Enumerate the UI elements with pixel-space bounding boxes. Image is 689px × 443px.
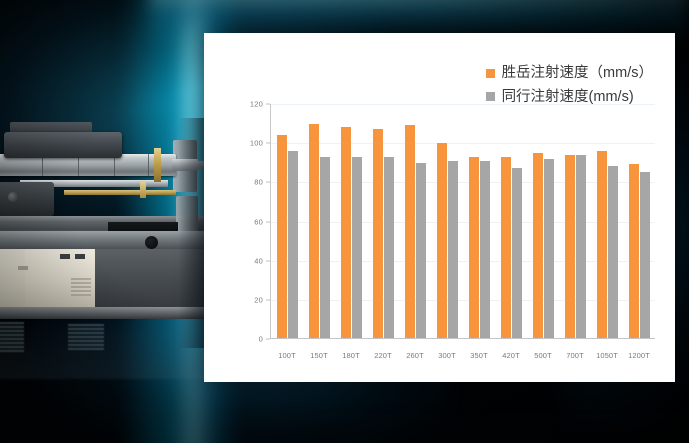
x-axis-tick-label: 300T <box>431 351 463 360</box>
x-axis-labels: 100T150T180T220T260T300T350T420T500T700T… <box>271 351 655 360</box>
bar-group <box>591 104 623 338</box>
bar-group <box>495 104 527 338</box>
x-axis-tick-label: 1200T <box>623 351 655 360</box>
y-axis-tick-label: 60 <box>254 217 263 226</box>
y-axis-tick-label: 80 <box>254 178 263 187</box>
legend-swatch-orange-square <box>486 69 495 78</box>
chart-panel: 胜岳注射速度（mm/s） 同行注射速度(mm/s) 02040608010012… <box>204 33 675 382</box>
x-axis-tick-label: 500T <box>527 351 559 360</box>
x-axis-tick-label: 1050T <box>591 351 623 360</box>
legend-swatch-gray-square <box>486 92 495 101</box>
y-axis-tick-label: 40 <box>254 256 263 265</box>
bar-shengyue <box>373 129 383 338</box>
legend-item-shengyue: 胜岳注射速度（mm/s） <box>486 66 653 81</box>
bar-shengyue <box>437 143 447 338</box>
x-axis-tick-label: 420T <box>495 351 527 360</box>
bar-peer <box>416 163 426 339</box>
bar-peer <box>384 157 394 338</box>
chart-plot-area: 020406080100120 <box>242 104 655 339</box>
bar-shengyue <box>405 125 415 338</box>
legend-item-peer: 同行注射速度(mm/s) <box>486 90 653 105</box>
y-axis-tick-label: 0 <box>259 335 263 344</box>
bar-peer <box>544 159 554 338</box>
slide-canvas: 胜岳注射速度（mm/s） 同行注射速度(mm/s) 02040608010012… <box>0 0 689 443</box>
bar-peer <box>512 168 522 338</box>
bar-shengyue <box>533 153 543 338</box>
x-axis-tick-label: 100T <box>271 351 303 360</box>
bar-shengyue <box>565 155 575 338</box>
bar-shengyue <box>309 124 319 339</box>
bar-group <box>303 104 335 338</box>
bar-group <box>335 104 367 338</box>
bar-shengyue <box>501 157 511 338</box>
bar-group <box>271 104 303 338</box>
bar-group <box>527 104 559 338</box>
bar-group <box>463 104 495 338</box>
bar-peer <box>448 161 458 338</box>
bar-shengyue <box>469 157 479 338</box>
bar-group <box>431 104 463 338</box>
bar-shengyue <box>341 127 351 338</box>
legend-label-shengyue: 胜岳注射速度（mm/s） <box>502 66 653 81</box>
bar-shengyue <box>629 164 639 338</box>
bar-peer <box>288 151 298 338</box>
bar-peer <box>640 172 650 338</box>
bar-group <box>623 104 655 338</box>
bar-peer <box>352 157 362 338</box>
x-axis-tick-label: 180T <box>335 351 367 360</box>
x-axis-tick-label: 220T <box>367 351 399 360</box>
x-axis-tick-label: 150T <box>303 351 335 360</box>
legend-label-peer: 同行注射速度(mm/s) <box>502 90 634 105</box>
bar-group <box>367 104 399 338</box>
bar-peer <box>320 157 330 338</box>
bar-group <box>399 104 431 338</box>
y-axis-tick-label: 20 <box>254 295 263 304</box>
bar-peer <box>576 155 586 338</box>
bar-shengyue <box>597 151 607 338</box>
bar-peer <box>608 166 618 338</box>
y-axis: 020406080100120 <box>242 104 270 339</box>
y-axis-tick-label: 100 <box>250 139 263 148</box>
bar-series-container <box>271 104 655 338</box>
bar-peer <box>480 161 490 338</box>
x-axis-tick-label: 260T <box>399 351 431 360</box>
y-axis-tick-label: 120 <box>250 100 263 109</box>
bar-shengyue <box>277 135 287 338</box>
x-axis-tick-label: 350T <box>463 351 495 360</box>
x-axis-line <box>270 338 655 339</box>
x-axis-tick-label: 700T <box>559 351 591 360</box>
bar-group <box>559 104 591 338</box>
